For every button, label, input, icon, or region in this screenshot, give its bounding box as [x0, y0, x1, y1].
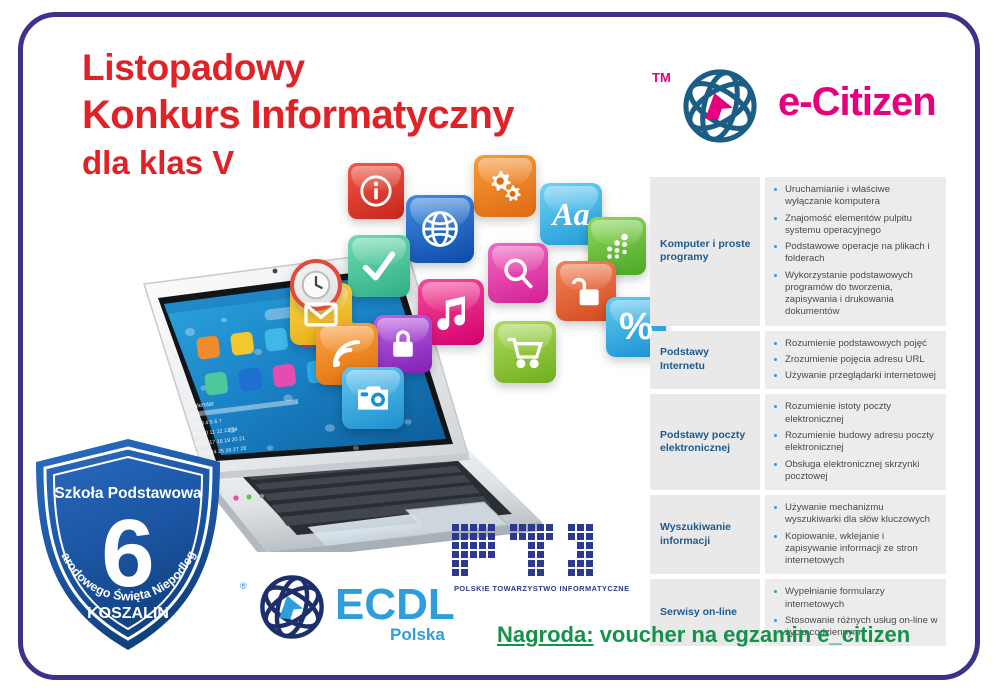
table-row: Komputer i proste programy Uruchamianie …	[650, 177, 946, 326]
ecdl-globe-icon	[252, 567, 332, 647]
ecdl-logo: ® ECDL Polska	[240, 563, 455, 653]
search-icon	[488, 243, 548, 303]
row-items: Rozumienie istoty poczty elektronicznej …	[765, 394, 946, 490]
list-item: Podstawowe operacje na plikach i foldera…	[774, 241, 938, 266]
camera-icon	[342, 367, 404, 429]
cart-icon	[494, 321, 556, 383]
badge-city: KOSZALIN	[87, 605, 169, 622]
list-item: Wypełnianie formularzy internetowych	[774, 586, 938, 611]
list-item: Rozumienie podstawowych pojęć	[774, 338, 938, 350]
pti-logo: POLSKIE TOWARZYSTWO INFORMATYCZNE	[452, 524, 632, 594]
poster-title: Listopadowy Konkurs Informatyczny dla kl…	[82, 46, 662, 182]
row-category: Komputer i proste programy	[650, 177, 760, 326]
pti-subtitle: POLSKIE TOWARZYSTWO INFORMATYCZNE	[454, 584, 630, 593]
poster-canvas: Calendar 1 2 3 4 5 6 7 8 9 10 11 12 13 1…	[0, 0, 1000, 699]
check-icon	[348, 235, 410, 297]
title-line-1: Listopadowy	[82, 46, 662, 90]
list-item: Kopiowanie, wklejanie i zapisywanie info…	[774, 531, 938, 568]
row-category: Podstawy Internetu	[650, 331, 760, 390]
list-item: Rozumienie budowy adresu poczty elektron…	[774, 430, 938, 455]
school-badge: Szkoła Podstawowa 6 im. Narodowego Święt…	[28, 434, 228, 659]
list-item: Wykorzystanie podstawowych programów do …	[774, 270, 938, 319]
list-item: Znajomość elementów pulpitu systemu oper…	[774, 213, 938, 238]
trademark-symbol: TM	[652, 70, 671, 85]
ecitizen-globe-icon	[674, 60, 766, 152]
list-item: Rozumienie istoty poczty elektronicznej	[774, 401, 938, 426]
ecdl-subtitle: Polska	[390, 625, 445, 645]
table-row: Podstawy Internetu Rozumienie podstawowy…	[650, 331, 946, 390]
globe-icon	[406, 195, 474, 263]
list-item: Używanie mechanizmu wyszukiwarki dla słó…	[774, 502, 938, 527]
row-category: Podstawy poczty elektronicznej	[650, 394, 760, 490]
ecdl-wordmark: ECDL	[335, 583, 455, 627]
prize-value: voucher na egzamin e_citizen	[600, 622, 911, 647]
list-item: Używanie przeglądarki internetowej	[774, 370, 938, 382]
row-items: Rozumienie podstawowych pojęć Zrozumieni…	[765, 331, 946, 390]
table-row: Podstawy poczty elektronicznej Rozumieni…	[650, 394, 946, 490]
title-line-2: Konkurs Informatyczny	[82, 92, 662, 139]
table-row: Wyszukiwanie informacji Używanie mechani…	[650, 495, 946, 574]
lock-icon	[374, 315, 432, 373]
row-items: Używanie mechanizmu wyszukiwarki dla słó…	[765, 495, 946, 574]
ecitizen-logo: TM e-Citizen	[650, 58, 960, 158]
list-item: Zrozumienie pojęcia adresu URL	[774, 354, 938, 366]
list-item: Uruchamianie i właściwe wyłączanie kompu…	[774, 184, 938, 209]
registered-symbol: ®	[240, 581, 247, 591]
list-item: Obsługa elektronicznej skrzynki pocztowe…	[774, 459, 938, 484]
syllabus-table: Komputer i proste programy Uruchamianie …	[650, 177, 946, 651]
row-items: Uruchamianie i właściwe wyłączanie kompu…	[765, 177, 946, 326]
pti-pixel-wordmark	[452, 524, 630, 587]
row-category: Wyszukiwanie informacji	[650, 495, 760, 574]
prize-label: Nagroda:	[497, 622, 594, 647]
prize-line: Nagroda: voucher na egzamin e_citizen	[497, 622, 910, 648]
ecitizen-wordmark: e-Citizen	[778, 80, 936, 125]
app-icon-cluster: Aa	[296, 155, 636, 415]
